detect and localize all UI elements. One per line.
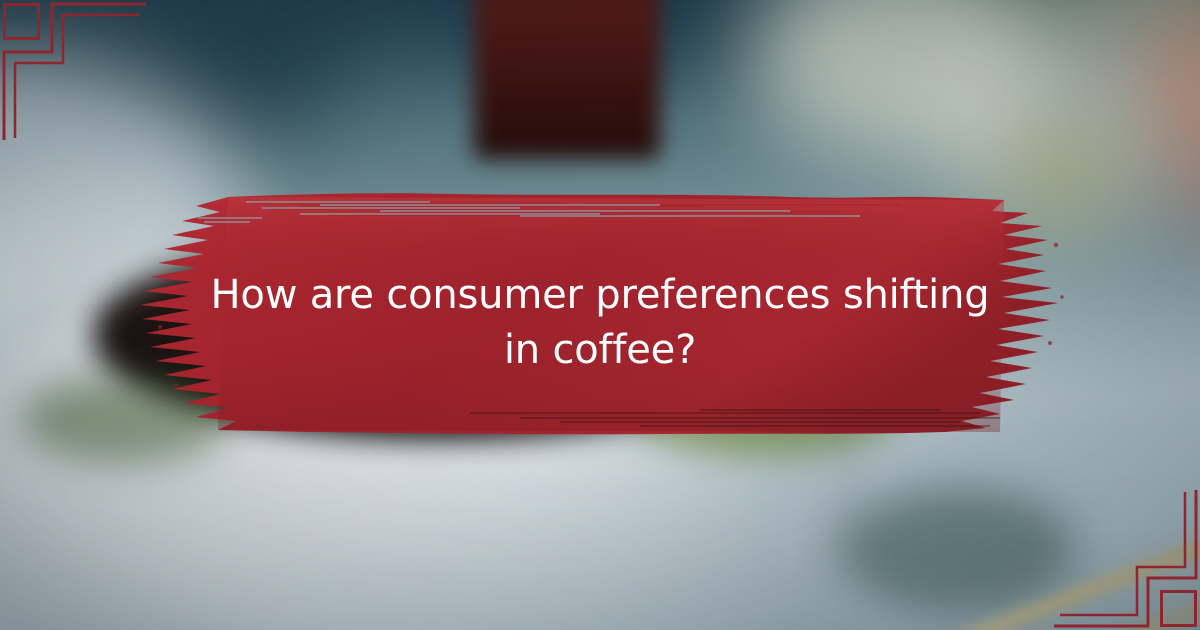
chopstick-shadow xyxy=(838,487,1076,612)
page-title: How are consumer preferences shifting in… xyxy=(208,268,992,378)
question-card: How are consumer preferences shifting in… xyxy=(0,0,1200,630)
dark-jar-shape xyxy=(474,0,660,159)
